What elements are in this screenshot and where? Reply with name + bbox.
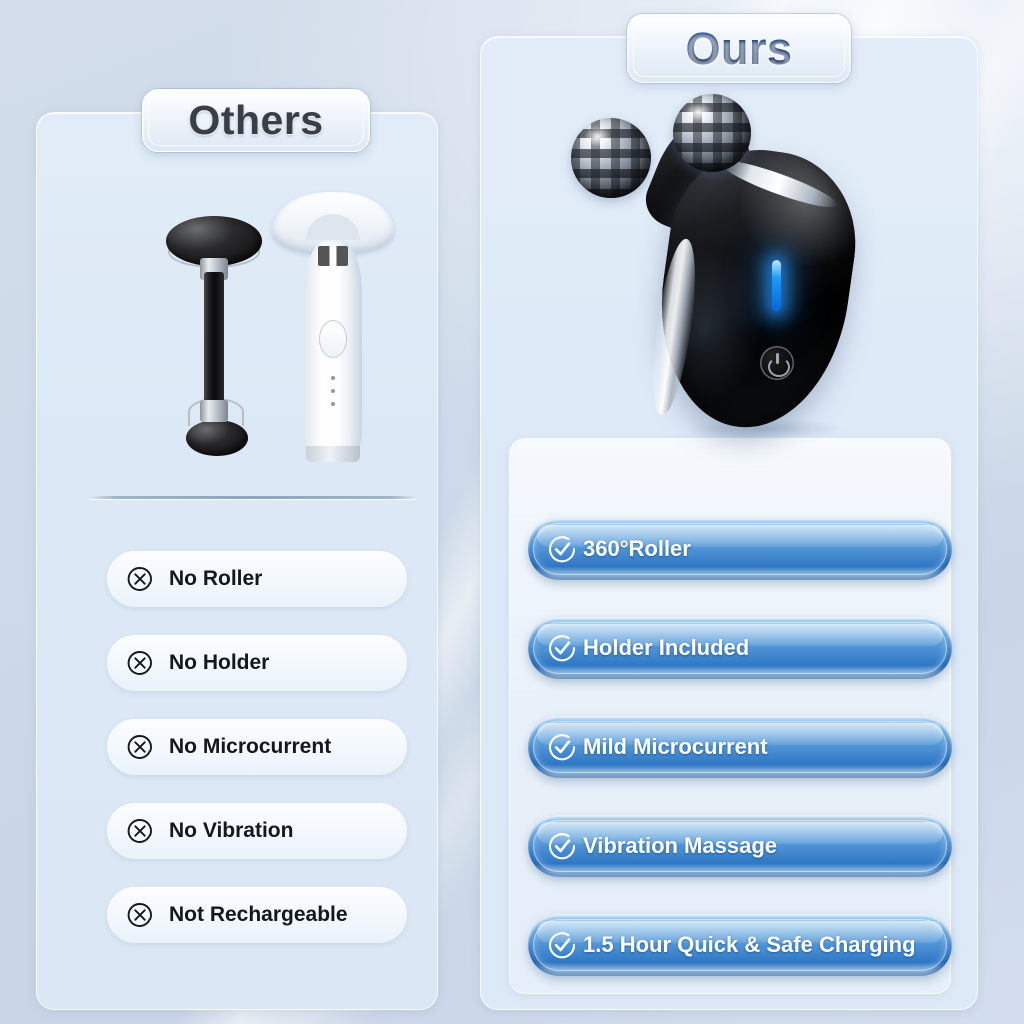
others-feature-label: No Microcurrent bbox=[169, 735, 331, 759]
others-feature-item: Not Rechargeable bbox=[107, 887, 407, 943]
roller-handle bbox=[204, 272, 224, 408]
ours-feature-list: 360°Roller Holder Included Mild Microcur… bbox=[528, 518, 952, 976]
power-button-icon bbox=[760, 346, 794, 380]
circle-check-icon bbox=[546, 830, 578, 862]
others-product-images bbox=[36, 170, 438, 480]
ours-feature-item: Mild Microcurrent bbox=[528, 716, 952, 778]
ours-feature-label: Holder Included bbox=[583, 635, 749, 661]
others-feature-label: No Holder bbox=[169, 651, 269, 675]
roller-head-small bbox=[186, 420, 248, 456]
circle-check-icon bbox=[546, 632, 578, 664]
circle-x-icon bbox=[125, 900, 155, 930]
ours-feature-label: 1.5 Hour Quick & Safe Charging bbox=[583, 932, 916, 958]
others-feature-item: No Roller bbox=[107, 551, 407, 607]
neck-massager-electrodes bbox=[318, 246, 348, 266]
others-feature-list: No Roller No Holder No Microcurrent No V… bbox=[107, 551, 407, 943]
others-feature-item: No Holder bbox=[107, 635, 407, 691]
others-feature-label: Not Rechargeable bbox=[169, 903, 348, 927]
black-face-roller-image bbox=[154, 210, 274, 468]
ours-feature-item: 360°Roller bbox=[528, 518, 952, 580]
product-led-indicator bbox=[772, 260, 781, 312]
others-feature-item: No Vibration bbox=[107, 803, 407, 859]
others-title-badge: Others bbox=[142, 89, 370, 152]
ours-feature-item: Vibration Massage bbox=[528, 815, 952, 877]
neck-massager-button bbox=[319, 320, 347, 358]
ours-title-badge: Ours bbox=[627, 14, 851, 83]
ours-feature-label: 360°Roller bbox=[583, 536, 691, 562]
ours-feature-label: Vibration Massage bbox=[583, 833, 777, 859]
others-feature-item: No Microcurrent bbox=[107, 719, 407, 775]
neck-massager-base bbox=[306, 446, 360, 462]
circle-check-icon bbox=[546, 533, 578, 565]
others-feature-label: No Roller bbox=[169, 567, 262, 591]
neck-massager-indicator-lights bbox=[322, 376, 344, 415]
others-divider bbox=[90, 496, 416, 499]
ours-feature-item: 1.5 Hour Quick & Safe Charging bbox=[528, 914, 952, 976]
circle-x-icon bbox=[125, 816, 155, 846]
circle-check-icon bbox=[546, 731, 578, 763]
ours-feature-item: Holder Included bbox=[528, 617, 952, 679]
white-neck-massager-image bbox=[272, 188, 394, 472]
others-feature-label: No Vibration bbox=[169, 819, 293, 843]
ours-feature-label: Mild Microcurrent bbox=[583, 734, 768, 760]
product-roller-ball-right bbox=[673, 94, 751, 172]
circle-x-icon bbox=[125, 648, 155, 678]
product-roller-ball-left bbox=[571, 118, 651, 198]
others-title-text: Others bbox=[188, 100, 323, 141]
ours-product-image bbox=[545, 88, 885, 448]
circle-x-icon bbox=[125, 732, 155, 762]
ours-title-text: Ours bbox=[685, 26, 792, 71]
circle-x-icon bbox=[125, 564, 155, 594]
roller-ferrule-bottom bbox=[200, 400, 228, 422]
circle-check-icon bbox=[546, 929, 578, 961]
